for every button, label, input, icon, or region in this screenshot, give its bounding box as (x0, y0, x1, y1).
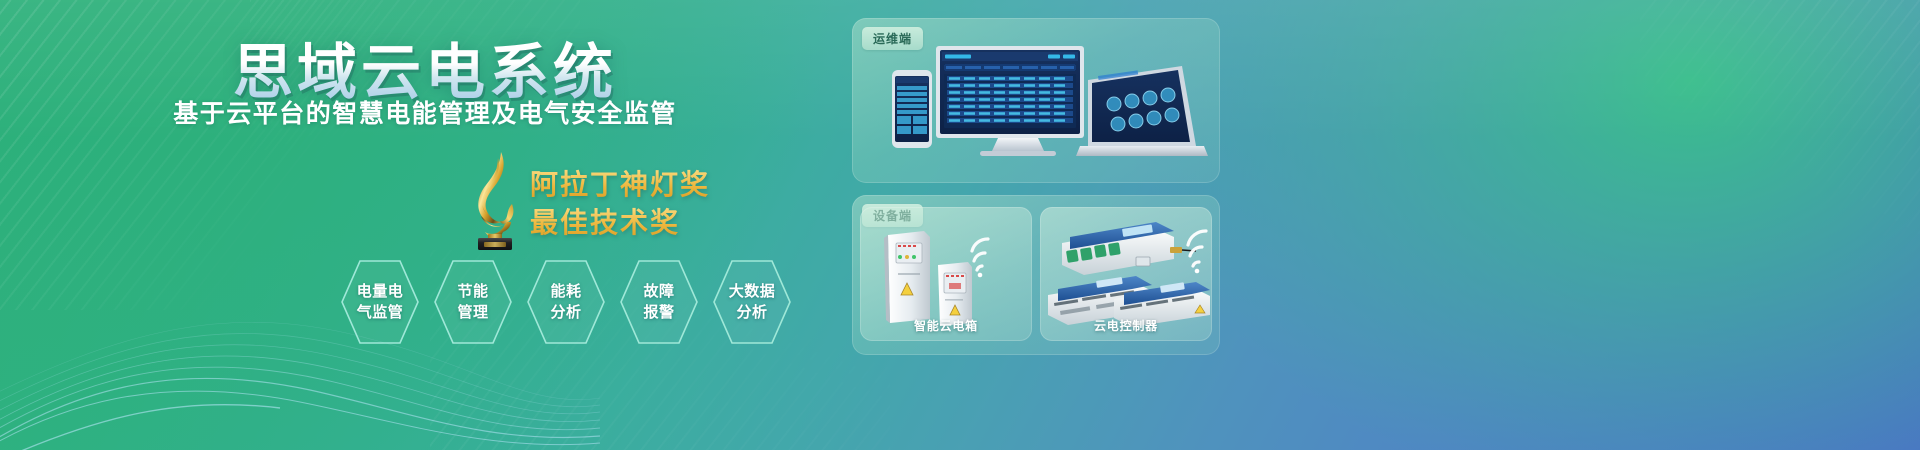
feature-badge-line1: 节能 (457, 283, 488, 300)
feature-badge-line2: 管理 (457, 304, 488, 321)
feature-badge-line1: 能耗 (550, 283, 581, 300)
feature-badge-line1: 电量电 (357, 283, 404, 300)
award-name: 最佳技术奖 (530, 204, 830, 242)
device-label: 智能云电箱 (860, 317, 1032, 334)
device-card-cloud-box[interactable]: 智能云电箱 (860, 207, 1032, 341)
ops-panel: 运维端 (852, 18, 1220, 183)
promo-banner: 思域云电系统 基于云平台的智慧电能管理及电气安全监管 (0, 0, 1920, 450)
page-subtitle: 基于云平台的智慧电能管理及电气安全监管 (0, 94, 850, 130)
device-card-controller[interactable]: 云电控制器 (1040, 207, 1212, 341)
feature-badge[interactable]: 电量电 气监管 (340, 258, 420, 346)
award-list: 阿拉丁神灯奖 最佳技术奖 (530, 166, 830, 242)
ops-devices-illustration (852, 18, 1220, 183)
feature-badge[interactable]: 节能 管理 (433, 258, 513, 346)
feature-badge-line2: 报警 (643, 304, 674, 321)
device-label: 云电控制器 (1040, 317, 1212, 334)
feature-badge[interactable]: 故障 报警 (619, 258, 699, 346)
left-content: 思域云电系统 基于云平台的智慧电能管理及电气安全监管 (0, 0, 850, 450)
feature-badge-line2: 分析 (550, 304, 581, 321)
feature-badge-line2: 气监管 (357, 304, 404, 321)
feature-badge-line1: 大数据 (729, 283, 776, 300)
feature-badge-line2: 分析 (736, 304, 767, 321)
feature-badge[interactable]: 大数据 分析 (712, 258, 792, 346)
device-panel: 设备端 (852, 195, 1220, 355)
feature-badge-line1: 故障 (643, 283, 674, 300)
feature-badge[interactable]: 能耗 分析 (526, 258, 606, 346)
feature-badge-row: 电量电 气监管 节能 管理 能耗 分析 (340, 258, 792, 346)
award-name: 阿拉丁神灯奖 (530, 166, 830, 204)
right-panels: 运维端 (852, 18, 1902, 436)
